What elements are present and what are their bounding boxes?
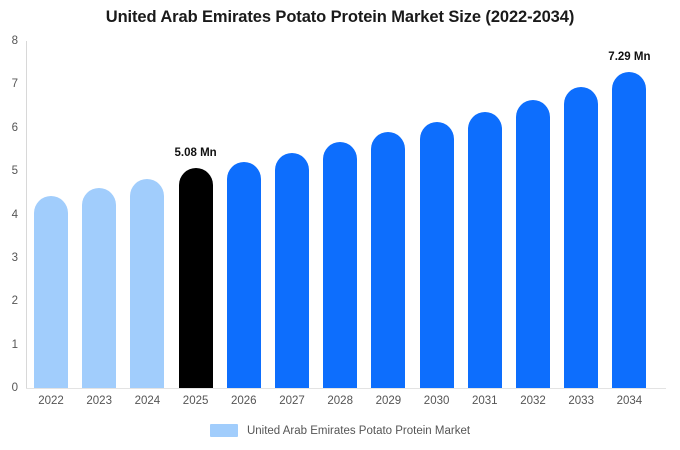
y-axis-tick: 7 — [12, 78, 26, 90]
x-axis-tick: 2034 — [612, 395, 646, 407]
bar[interactable] — [564, 87, 598, 388]
bar[interactable] — [275, 153, 309, 388]
x-axis-tick: 2024 — [130, 395, 164, 407]
y-axis-tick: 0 — [12, 382, 26, 394]
y-axis-tick: 4 — [12, 209, 26, 221]
bar[interactable] — [420, 122, 454, 388]
bar-group[interactable] — [371, 41, 405, 388]
x-axis-tick: 2022 — [34, 395, 68, 407]
bar-group[interactable] — [227, 41, 261, 388]
y-axis-tick: 3 — [12, 252, 26, 264]
x-axis-tick: 2032 — [516, 395, 550, 407]
x-axis-tick: 2026 — [227, 395, 261, 407]
x-axis-tick: 2030 — [420, 395, 454, 407]
y-axis-tick: 5 — [12, 165, 26, 177]
bar[interactable] — [468, 112, 502, 388]
plot-area: 5.08 Mn7.29 Mn — [26, 41, 666, 388]
x-axis-tick: 2025 — [179, 395, 213, 407]
chart-container: United Arab Emirates Potato Protein Mark… — [0, 0, 680, 450]
bar-group[interactable] — [420, 41, 454, 388]
bar[interactable] — [82, 188, 116, 388]
chart-title: United Arab Emirates Potato Protein Mark… — [0, 8, 680, 27]
x-axis-tick: 2031 — [468, 395, 502, 407]
bar[interactable] — [323, 142, 357, 388]
y-axis-tick: 6 — [12, 122, 26, 134]
chart-legend: United Arab Emirates Potato Protein Mark… — [0, 424, 680, 437]
bar[interactable] — [371, 132, 405, 388]
x-axis-tick: 2029 — [371, 395, 405, 407]
bar-group[interactable] — [130, 41, 164, 388]
x-axis-tick: 2028 — [323, 395, 357, 407]
bar-group[interactable] — [468, 41, 502, 388]
bar-group[interactable] — [275, 41, 309, 388]
y-axis-tick: 1 — [12, 339, 26, 351]
bar[interactable] — [227, 162, 261, 388]
legend-label: United Arab Emirates Potato Protein Mark… — [247, 425, 470, 437]
bar-group[interactable]: 7.29 Mn — [612, 41, 646, 388]
x-axis-tick: 2023 — [82, 395, 116, 407]
x-axis-tick: 2027 — [275, 395, 309, 407]
bar-group[interactable] — [323, 41, 357, 388]
bar[interactable] — [130, 179, 164, 388]
bar[interactable] — [516, 100, 550, 388]
bar[interactable] — [612, 72, 646, 388]
legend-swatch — [210, 424, 238, 437]
bar[interactable] — [179, 168, 213, 388]
bar-value-label: 5.08 Mn — [175, 147, 217, 159]
bar-group[interactable] — [82, 41, 116, 388]
bar-group[interactable] — [516, 41, 550, 388]
bar-group[interactable]: 5.08 Mn — [179, 41, 213, 388]
bar-value-label: 7.29 Mn — [608, 51, 650, 63]
bar-group[interactable] — [564, 41, 598, 388]
bar-group[interactable] — [34, 41, 68, 388]
x-axis-line — [26, 388, 666, 389]
y-axis-tick: 8 — [12, 35, 26, 47]
x-axis-tick: 2033 — [564, 395, 598, 407]
bar[interactable] — [34, 196, 68, 388]
y-axis-tick: 2 — [12, 295, 26, 307]
